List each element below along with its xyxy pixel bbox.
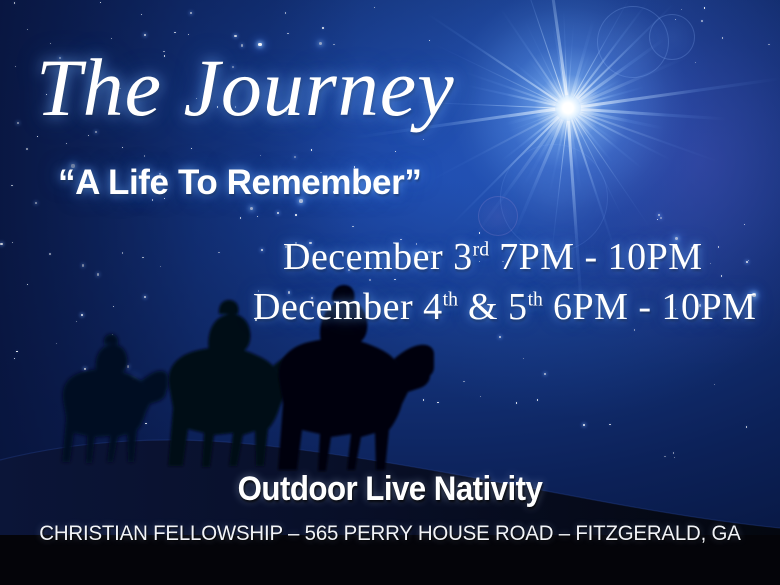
date-1-time: 7PM - 10PM — [489, 236, 703, 278]
page-title: The Journey — [36, 47, 455, 129]
camel-1 — [62, 334, 168, 463]
poster-subtitle: “A Life To Remember” — [58, 163, 421, 203]
address-line: CHRISTIAN FELLOWSHIP – 565 PERRY HOUSE R… — [20, 521, 761, 546]
date-1-text: December 3 — [283, 236, 473, 278]
date-1-ordinal: rd — [473, 238, 489, 260]
date-2-time: 6PM - 10PM — [543, 286, 757, 328]
venue-heading: Outdoor Live Nativity — [31, 470, 749, 509]
date-2-text-second: & 5 — [458, 286, 528, 328]
date-line-2: December 4th & 5th 6PM - 10PM — [253, 285, 756, 329]
camel-2-rider — [208, 314, 250, 354]
date-2-text: December 4 — [253, 286, 443, 328]
camel-1-rider — [96, 344, 128, 374]
date-2-ordinal: th — [443, 288, 458, 310]
nativity-event-poster: The Journey “A Life To Remember” Decembe… — [0, 0, 780, 585]
date-line-1: December 3rd 7PM - 10PM — [283, 235, 703, 279]
date-2-ordinal-second: th — [528, 288, 543, 310]
